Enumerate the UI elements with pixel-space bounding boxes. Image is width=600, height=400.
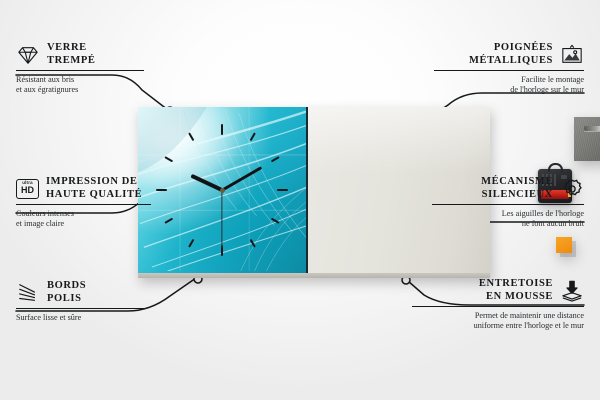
feature-desc-line1: Les aiguilles de l'horloge <box>432 209 584 219</box>
clock-tick-9 <box>156 189 167 191</box>
feature-bords-polis: BORDS POLIS Surface lisse et sûre <box>16 280 144 323</box>
hanger-slot <box>584 126 600 131</box>
clock-center-pivot <box>220 188 225 193</box>
feature-mecanisme-silencieux: MÉCANISME SILENCIEUX Les aiguilles de l'… <box>432 176 584 229</box>
foam-spacer-square <box>556 237 572 253</box>
feature-desc-line1: Couleurs intenses <box>16 209 151 219</box>
feature-desc-line1: Permet de maintenir une distance <box>412 311 584 321</box>
infographic-canvas: VERRE TREMPÉ Résistant aux bris et aux é… <box>0 0 600 400</box>
feature-title-line1: ENTRETOISE <box>479 278 553 291</box>
clock-front-panel <box>138 107 308 273</box>
feature-divider <box>16 204 151 205</box>
feature-title-line1: VERRE <box>47 42 96 55</box>
feature-title-line1: MÉCANISME <box>481 176 553 189</box>
feature-divider <box>16 308 144 309</box>
polished-edges-icon <box>16 282 40 304</box>
feature-title-line2: MÉTALLIQUES <box>469 55 553 68</box>
feature-desc-line2: et aux égratignures <box>16 85 144 95</box>
feature-desc-line1: Résistant aux bris <box>16 75 144 85</box>
feature-title-line2: POLIS <box>47 293 86 306</box>
feature-divider <box>434 70 584 71</box>
metal-hanger-plate <box>574 117 600 161</box>
feature-desc-line2: ne font aucun bruit <box>432 219 584 229</box>
feature-divider <box>432 204 584 205</box>
feature-divider <box>412 306 584 307</box>
feature-title-line2: SILENCIEUX <box>481 189 553 202</box>
feature-desc-line2: de l'horloge sur le mur <box>434 85 584 95</box>
foam-spacer-arrow-icon <box>560 280 584 302</box>
feature-verre-trempe: VERRE TREMPÉ Résistant aux bris et aux é… <box>16 42 144 95</box>
feature-title-line1: BORDS <box>47 280 86 293</box>
feature-divider <box>16 70 144 71</box>
clock-tick-12 <box>221 124 223 135</box>
ultra-hd-icon: ultra HD <box>16 179 39 199</box>
feature-title-line2: TREMPÉ <box>47 55 96 68</box>
feature-poignees-metalliques: POIGNÉES MÉTALLIQUES Facilite le montage… <box>434 42 584 95</box>
feature-title-line1: POIGNÉES <box>469 42 553 55</box>
feature-desc-line1: Facilite le montage <box>434 75 584 85</box>
feature-desc-line2: uniforme entre l'horloge et le mur <box>412 321 584 331</box>
feature-impression-haute-qualite: ultra HD IMPRESSION DE HAUTE QUALITÉ Cou… <box>16 176 151 229</box>
diamond-icon <box>16 44 40 66</box>
gear-icon <box>560 178 584 200</box>
feature-title-line2: HAUTE QUALITÉ <box>46 189 142 202</box>
feature-desc-line2: et image claire <box>16 219 151 229</box>
mechanism-hanging-loop <box>548 163 563 172</box>
feature-title-line1: IMPRESSION DE <box>46 176 142 189</box>
clock-tick-3 <box>277 189 288 191</box>
picture-frame-hanger-icon <box>560 44 584 66</box>
ultra-hd-icon-main: HD <box>21 186 34 196</box>
feature-desc-line1: Surface lisse et sûre <box>16 313 144 323</box>
feature-title-line2: EN MOUSSE <box>479 291 553 304</box>
feature-entretoise-en-mousse: ENTRETOISE EN MOUSSE Permet de maintenir… <box>412 278 584 331</box>
